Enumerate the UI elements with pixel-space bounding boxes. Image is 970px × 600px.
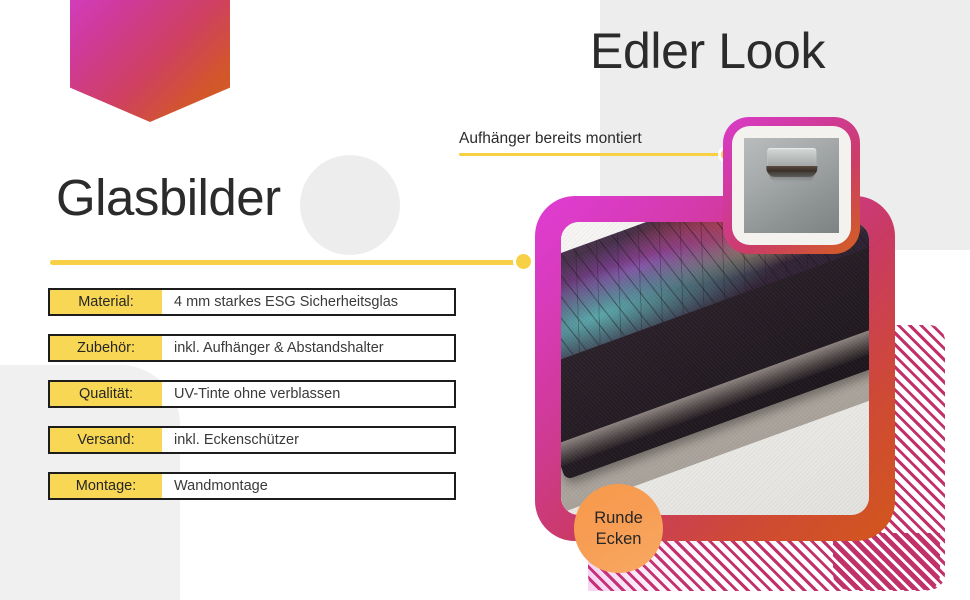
- shield-banner-icon: [70, 0, 230, 122]
- status-badge: Runde Ecken: [574, 484, 663, 573]
- photo-grain: [561, 222, 869, 515]
- decor-circle-behind-title: [300, 155, 400, 255]
- hanger-plate-icon: [744, 138, 839, 233]
- badge-line-2: Ecken: [596, 529, 642, 550]
- table-row: Versand: inkl. Eckenschützer: [48, 426, 456, 454]
- spec-label: Zubehör:: [50, 336, 162, 360]
- product-photo: [561, 222, 869, 515]
- table-row: Montage: Wandmontage: [48, 472, 456, 500]
- badge-line-1: Runde: [594, 508, 643, 529]
- spec-value: UV-Tinte ohne verblassen: [162, 382, 454, 406]
- table-row: Zubehör: inkl. Aufhänger & Abstandshalte…: [48, 334, 456, 362]
- spec-table: Material: 4 mm starkes ESG Sicherheitsgl…: [48, 288, 456, 518]
- hanger-inset-inner: [732, 126, 851, 245]
- spec-label: Montage:: [50, 474, 162, 498]
- poster-canvas: Glasbilder Edler Look Material: 4 mm sta…: [0, 0, 970, 600]
- table-row: Material: 4 mm starkes ESG Sicherheitsgl…: [48, 288, 456, 316]
- spec-value: 4 mm starkes ESG Sicherheitsglas: [162, 290, 454, 314]
- spec-label: Qualität:: [50, 382, 162, 406]
- page-title: Glasbilder: [56, 172, 281, 223]
- table-row: Qualität: UV-Tinte ohne verblassen: [48, 380, 456, 408]
- spec-value: inkl. Aufhänger & Abstandshalter: [162, 336, 454, 360]
- hanger-shadow: [769, 172, 815, 182]
- feature-title: Edler Look: [590, 26, 825, 76]
- spec-label: Material:: [50, 290, 162, 314]
- spec-value: inkl. Eckenschützer: [162, 428, 454, 452]
- connector-dot-left: [513, 251, 534, 272]
- hanger-inset-card: [723, 117, 860, 254]
- connector-line-top: [459, 153, 729, 156]
- spec-value: Wandmontage: [162, 474, 454, 498]
- hanger-callout-label: Aufhänger bereits montiert: [459, 130, 642, 148]
- spec-label: Versand:: [50, 428, 162, 452]
- connector-line-left: [50, 260, 520, 265]
